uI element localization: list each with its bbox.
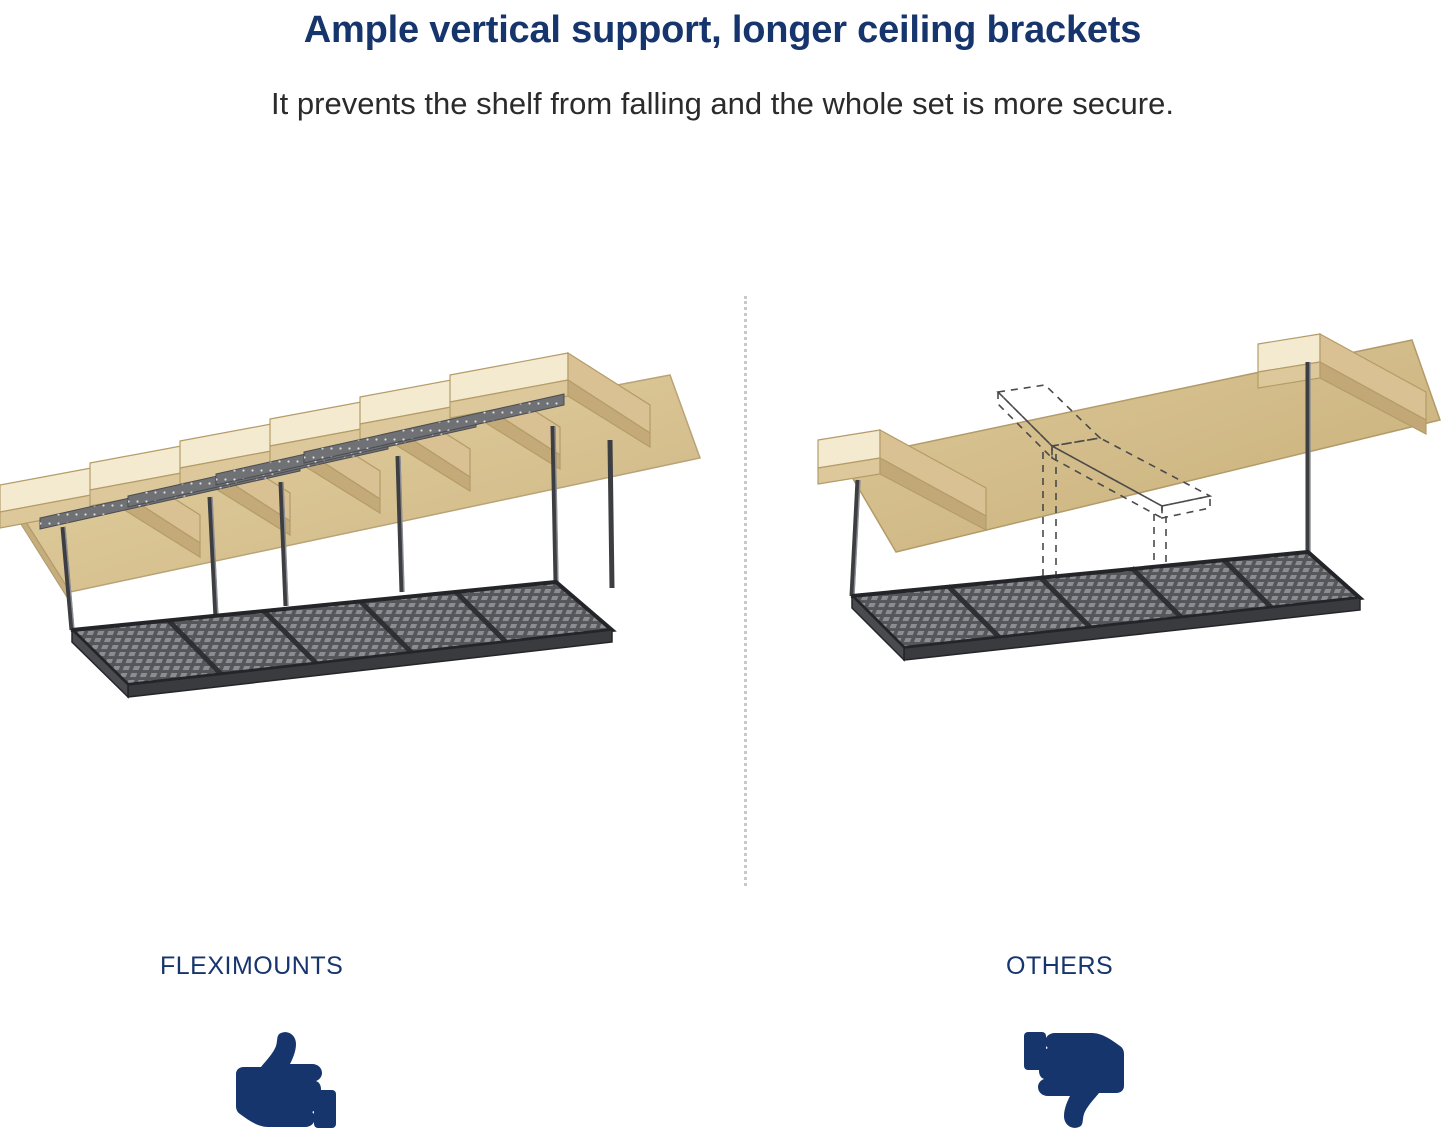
fleximounts-rack-illustration — [0, 330, 720, 735]
label-fleximounts: FLEXIMOUNTS — [160, 952, 343, 981]
shelf-platform — [852, 552, 1360, 660]
page-subtitle: It prevents the shelf from falling and t… — [0, 85, 1445, 124]
page-title: Ample vertical support, longer ceiling b… — [0, 8, 1445, 54]
thumbs-up-icon — [228, 1030, 338, 1130]
label-others: OTHERS — [1006, 952, 1113, 981]
infographic-page: Ample vertical support, longer ceiling b… — [0, 0, 1445, 1139]
others-rack-illustration — [800, 330, 1445, 735]
thumbs-down-icon — [1022, 1030, 1132, 1130]
shelf-platform — [72, 582, 612, 697]
vertical-divider — [744, 296, 747, 886]
